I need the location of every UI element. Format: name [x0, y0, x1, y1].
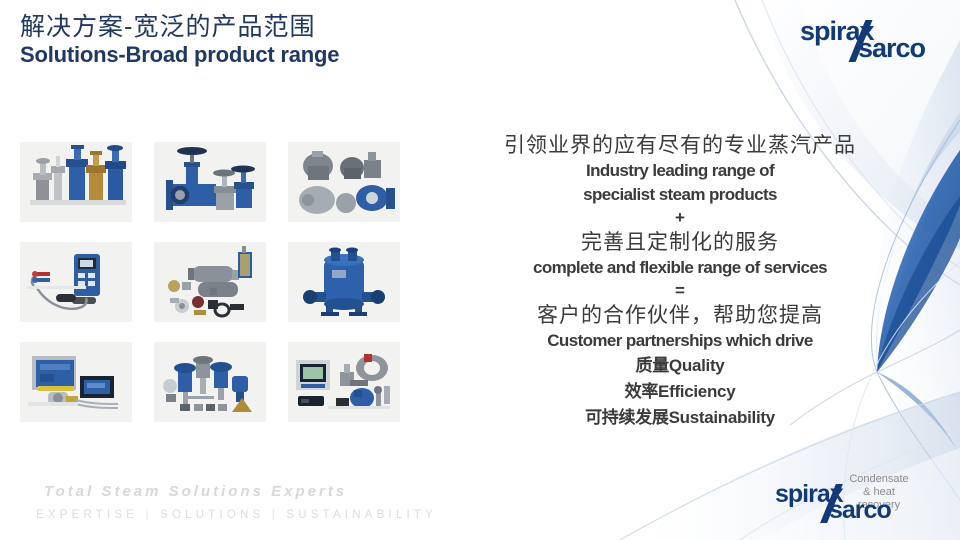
message-line-6: complete and flexible range of services — [470, 256, 890, 280]
product-tile-control-valves — [154, 142, 266, 222]
footer-separator-2: | — [272, 509, 279, 521]
logo-word-sarco: sarco — [858, 35, 925, 62]
message-operator-plus: + — [470, 207, 890, 229]
product-image-grid — [20, 142, 400, 422]
message-line-sustainability: 可持续发展Sustainability — [470, 405, 890, 431]
slide-canvas: 解决方案-宽泛的产品范围 Solutions-Broad product ran… — [0, 0, 960, 540]
product-tile-handheld-steam-trap-tester — [20, 242, 132, 322]
footer-separator-1: | — [146, 509, 153, 521]
product-tile-safety-relief-valves — [20, 142, 132, 222]
message-operator-equals: = — [470, 280, 890, 302]
page-title-english: Solutions-Broad product range — [20, 44, 339, 66]
spirax-sarco-logo-bottom: spirax sarco — [775, 482, 891, 523]
spirax-sarco-logo-top: spirax sarco — [800, 18, 925, 62]
heat-exchangers-and-fittings-icon — [154, 242, 266, 322]
message-line-3: specialist steam products — [470, 183, 890, 207]
footer-pillars: EXPERTISE | SOLUTIONS | SUSTAINABILITY — [36, 509, 437, 521]
message-line-2: Industry leading range of — [470, 159, 890, 183]
page-title: 解决方案-宽泛的产品范围 Solutions-Broad product ran… — [20, 14, 339, 66]
product-tile-valves-and-actuators — [154, 342, 266, 422]
message-line-quality: 质量Quality — [470, 353, 890, 379]
handheld-steam-trap-tester-icon — [20, 242, 132, 322]
product-tile-heat-exchangers-and-fittings — [154, 242, 266, 322]
product-tile-condensate-recovery-pump — [288, 242, 400, 322]
footer-pillar-solutions: SOLUTIONS — [160, 509, 264, 521]
logo-word-sarco: sarco — [829, 498, 891, 523]
flowmetering-systems-icon — [288, 342, 400, 422]
steam-traps-icon — [288, 142, 400, 222]
boiler-controls-icon — [20, 342, 132, 422]
footer-tagline: Total Steam Solutions Experts — [44, 483, 347, 500]
condensate-recovery-pump-icon — [288, 242, 400, 322]
message-line-8: 客户的合作伙伴，帮助您提高 — [470, 302, 890, 329]
value-proposition-block: 引领业界的应有尽有的专业蒸汽产品 Industry leading range … — [470, 132, 890, 431]
footer-pillar-expertise: EXPERTISE — [36, 509, 138, 521]
footer-pillar-sustainability: SUSTAINABILITY — [286, 509, 437, 521]
safety-relief-valves-icon — [20, 142, 132, 222]
message-line-efficiency: 效率Efficiency — [470, 379, 890, 405]
valves-and-actuators-icon — [154, 342, 266, 422]
product-tile-flowmetering-systems — [288, 342, 400, 422]
product-tile-steam-traps — [288, 142, 400, 222]
message-line-1: 引领业界的应有尽有的专业蒸汽产品 — [470, 132, 890, 159]
page-title-chinese: 解决方案-宽泛的产品范围 — [20, 14, 339, 39]
control-valves-icon — [154, 142, 266, 222]
product-tile-boiler-controls — [20, 342, 132, 422]
message-line-5: 完善且定制化的服务 — [470, 229, 890, 256]
message-line-9: Customer partnerships which drive — [470, 329, 890, 353]
